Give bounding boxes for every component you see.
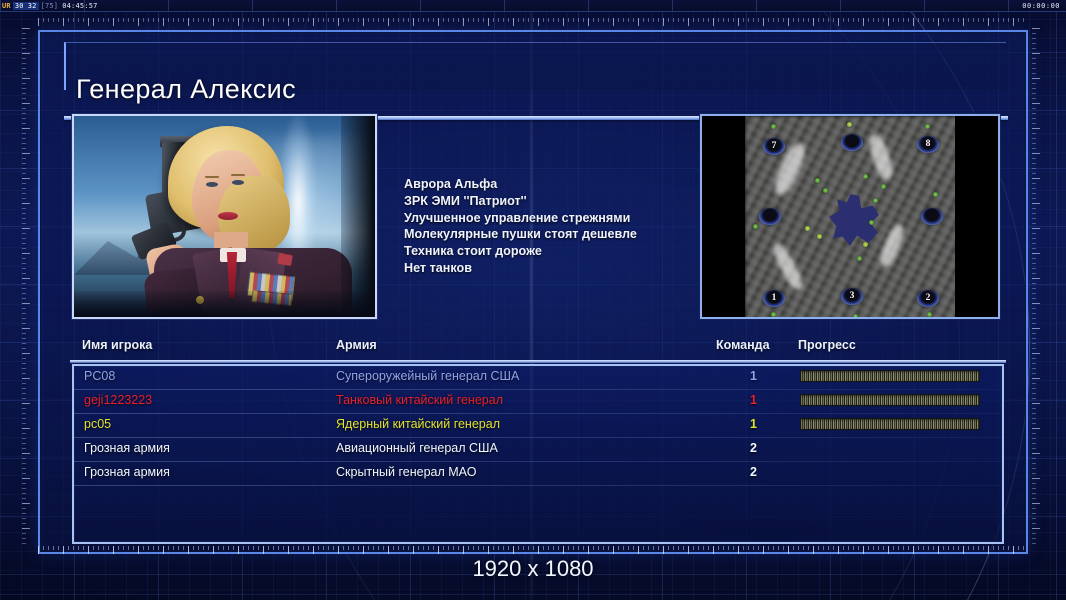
spawn-point-3[interactable]: 3 [841, 288, 863, 305]
player-team: 1 [750, 417, 757, 431]
player-army: Супероружейный генерал США [336, 369, 519, 383]
supply-dock-marker [857, 256, 862, 261]
spawn-point[interactable] [841, 134, 863, 151]
lips [218, 212, 238, 220]
supply-dock-marker [873, 198, 878, 203]
supply-dock-marker [853, 314, 858, 319]
resolution-label: 1920 x 1080 [0, 556, 1066, 582]
player-name: PC08 [84, 369, 115, 383]
spawn-point-2[interactable]: 2 [917, 290, 939, 307]
ability-line: ЗРК ЭМИ ''Патриот'' [404, 193, 734, 210]
supply-dock-marker [925, 124, 930, 129]
ruler-bottom [38, 546, 1028, 555]
column-header-team: Команда [716, 338, 770, 352]
top-status-bar: UR 30 32 [75] 04:45:57 00:00:00 [0, 0, 1066, 12]
eyebrow-left [205, 176, 219, 178]
supply-dock-marker [771, 124, 776, 129]
table-header-divider [70, 360, 1006, 363]
load-progress-bar [800, 418, 980, 430]
ruler-right [1032, 28, 1042, 544]
player-army: Авиационный генерал США [336, 441, 498, 455]
player-team: 1 [750, 369, 757, 383]
player-name: Грозная армия [84, 441, 170, 455]
supply-dock-marker [881, 184, 886, 189]
spawn-point-1[interactable]: 1 [763, 290, 785, 307]
supply-dock-marker [847, 122, 852, 127]
table-row[interactable]: pc05Ядерный китайский генерал1 [74, 414, 1002, 438]
row-divider [74, 485, 1002, 486]
player-team: 2 [750, 441, 757, 455]
main-panel: Генерал Алексис [38, 30, 1028, 554]
general-portrait [72, 114, 377, 319]
player-name: Грозная армия [84, 465, 170, 479]
player-table-header: Имя игрока Армия Команда Прогресс [82, 338, 994, 360]
table-row[interactable]: Грозная армияСкрытный генерал МАО2 [74, 462, 1002, 486]
player-army: Танковый китайский генерал [336, 393, 503, 407]
ability-line: Улучшенное управление стрежнями [404, 210, 734, 227]
portrait-vignette-right [341, 116, 375, 319]
status-num-1: 30 [13, 2, 26, 10]
status-tag: UR [0, 2, 13, 10]
supply-dock-marker [817, 234, 822, 239]
spawn-point-8[interactable]: 8 [917, 136, 939, 153]
map-preview: 78132 [700, 114, 1000, 319]
load-progress-bar [800, 394, 980, 406]
supply-dock-marker [753, 224, 758, 229]
page-title: Генерал Алексис [76, 74, 296, 105]
hero-row: Аврора АльфаЗРК ЭМИ ''Патриот''Улучшенно… [72, 114, 1004, 324]
general-figure [126, 124, 366, 319]
load-progress-bar [800, 370, 980, 382]
table-row[interactable]: Грозная армияАвиационный генерал США2 [74, 438, 1002, 462]
ability-line: Молекулярные пушки стоят дешевле [404, 226, 734, 243]
player-name: geji1223223 [84, 393, 152, 407]
match-timer: 00:00:00 [1022, 2, 1066, 10]
table-row[interactable]: PC08Супероружейный генерал США1 [74, 366, 1002, 390]
portrait-vignette-bottom [74, 291, 377, 317]
spawn-point-7[interactable]: 7 [763, 138, 785, 155]
player-army: Ядерный китайский генерал [336, 417, 500, 431]
ruler-left [22, 28, 32, 544]
player-team: 2 [750, 465, 757, 479]
column-header-progress: Прогресс [798, 338, 856, 352]
supply-dock-marker [823, 188, 828, 193]
map-letterbox-left [702, 116, 745, 319]
eye-left [206, 182, 218, 187]
player-name: pc05 [84, 417, 111, 431]
player-army: Скрытный генерал МАО [336, 465, 476, 479]
ability-line: Техника стоит дороже [404, 243, 734, 260]
player-team: 1 [750, 393, 757, 407]
supply-dock-marker [805, 226, 810, 231]
supply-dock-marker [869, 220, 874, 225]
player-list-panel: PC08Супероружейный генерал США1geji12232… [72, 364, 1004, 544]
status-bar-ticks [0, 0, 1066, 11]
eyebrow-right [231, 174, 245, 176]
supply-dock-marker [927, 312, 932, 317]
loading-screen: UR 30 32 [75] 04:45:57 00:00:00 Генерал … [0, 0, 1066, 600]
supply-dock-marker [863, 174, 868, 179]
collar-insignia [277, 253, 293, 266]
status-num-2: 32 [26, 2, 39, 10]
column-header-name: Имя игрока [82, 338, 152, 352]
ability-line: Аврора Альфа [404, 176, 734, 193]
player-rows: PC08Супероружейный генерал США1geji12232… [74, 366, 1002, 542]
general-ability-list: Аврора АльфаЗРК ЭМИ ''Патриот''Улучшенно… [404, 176, 734, 277]
table-row[interactable]: geji1223223Танковый китайский генерал1 [74, 390, 1002, 414]
eye-right [232, 180, 244, 185]
supply-dock-marker [815, 178, 820, 183]
spawn-point[interactable] [759, 208, 781, 225]
supply-dock-marker [771, 312, 776, 317]
status-clock: 04:45:57 [60, 2, 99, 10]
status-bracket: [75] [39, 2, 61, 10]
column-header-army: Армия [336, 338, 377, 352]
map-letterbox-right [955, 116, 998, 319]
ability-line: Нет танков [404, 260, 734, 277]
spawn-point[interactable] [921, 208, 943, 225]
ruler-top [38, 18, 1028, 28]
supply-dock-marker [863, 242, 868, 247]
supply-dock-marker [933, 192, 938, 197]
